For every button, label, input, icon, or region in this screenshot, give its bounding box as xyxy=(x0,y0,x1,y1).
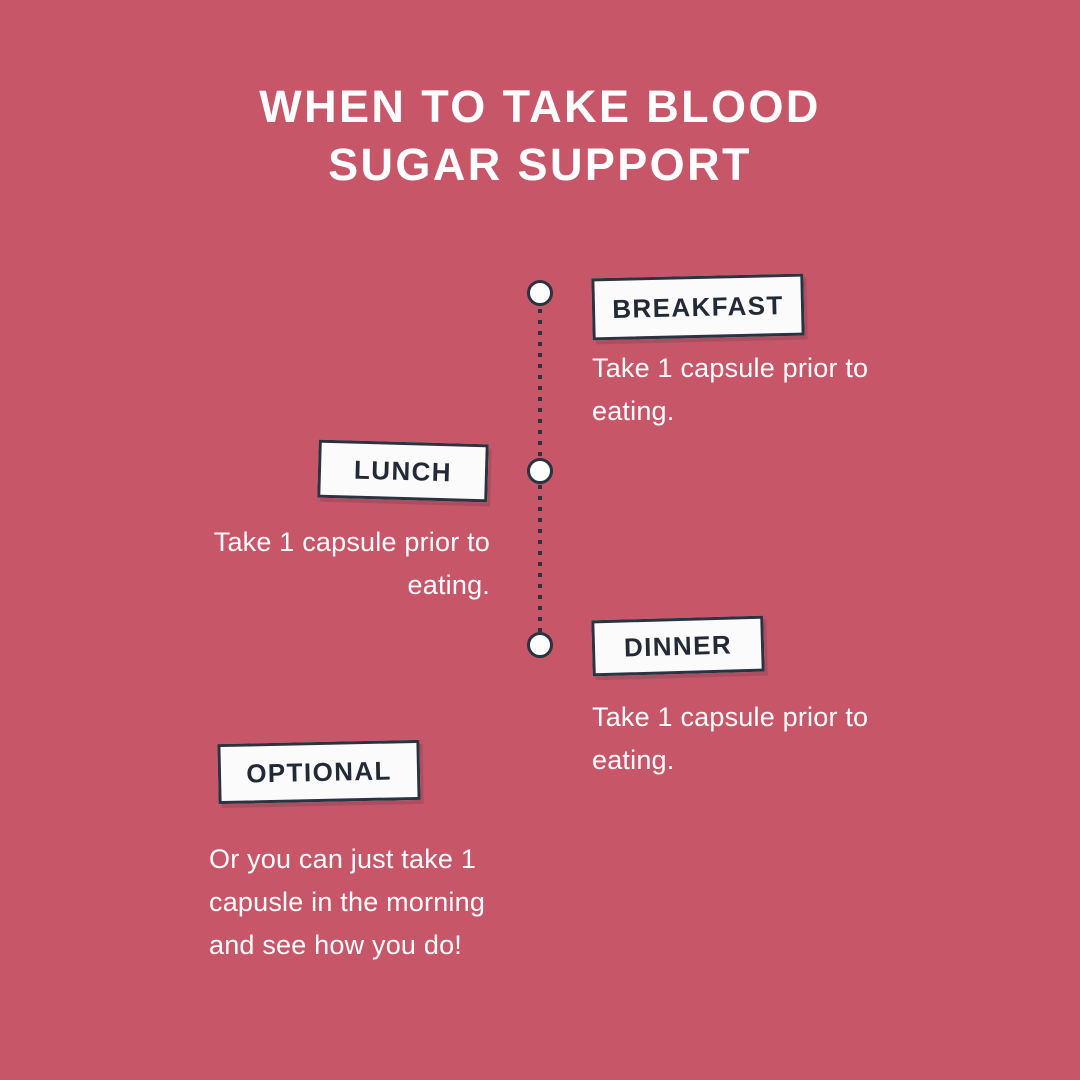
label-box-lunch: LUNCH xyxy=(317,440,489,503)
body-text-lunch: Take 1 capsule prior to eating. xyxy=(150,521,490,607)
body-text-breakfast: Take 1 capsule prior to eating. xyxy=(592,347,922,433)
timeline-node-breakfast xyxy=(527,280,553,306)
body-text-dinner: Take 1 capsule prior to eating. xyxy=(592,696,922,782)
label-box-breakfast: BREAKFAST xyxy=(591,274,804,341)
timeline-axis xyxy=(527,280,553,662)
label-dinner: DINNER xyxy=(624,629,733,663)
body-text-optional: Or you can just take 1 capusle in the mo… xyxy=(209,838,509,967)
label-box-optional: OPTIONAL xyxy=(217,740,420,804)
label-breakfast: BREAKFAST xyxy=(612,290,784,325)
timeline-node-lunch xyxy=(527,458,553,484)
title-line-2: SUGAR SUPPORT xyxy=(0,136,1080,194)
label-optional: OPTIONAL xyxy=(246,755,392,789)
title-line-1: WHEN TO TAKE BLOOD xyxy=(0,78,1080,136)
label-lunch: LUNCH xyxy=(354,454,453,488)
timeline-node-dinner xyxy=(527,632,553,658)
label-box-dinner: DINNER xyxy=(591,616,764,677)
infographic-canvas: WHEN TO TAKE BLOOD SUGAR SUPPORT BREAKFA… xyxy=(0,0,1080,1080)
page-title: WHEN TO TAKE BLOOD SUGAR SUPPORT xyxy=(0,78,1080,194)
